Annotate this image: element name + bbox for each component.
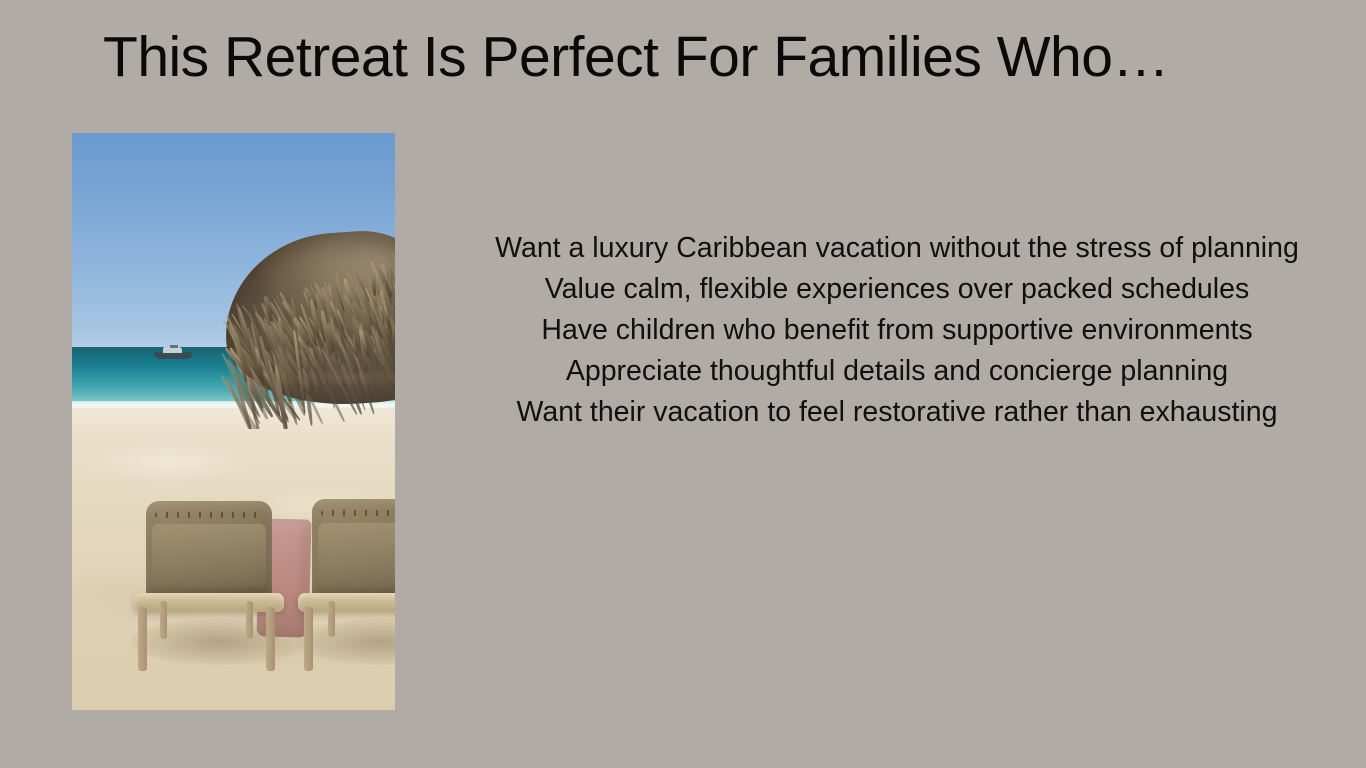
boat-mast (170, 345, 178, 348)
lounge-chair-left (134, 501, 284, 671)
chair-backrest (312, 499, 395, 597)
slide-canvas: This Retreat Is Perfect For Families Who… (0, 0, 1366, 768)
page-title: This Retreat Is Perfect For Families Who… (103, 20, 1283, 94)
chair-shadow (130, 619, 306, 665)
beach-photo-scene (72, 133, 395, 710)
chair-leg (328, 601, 335, 637)
palapa-thatch-strands (221, 229, 395, 429)
boat-hull (154, 352, 192, 359)
chair-leg (160, 601, 167, 639)
bullet-list: Want a luxury Caribbean vacation without… (447, 228, 1347, 433)
bullet-item: Want a luxury Caribbean vacation without… (447, 228, 1347, 269)
bullet-item: Want their vacation to feel restorative … (447, 392, 1347, 433)
chair-leg (138, 607, 147, 671)
palapa-shadow (255, 369, 395, 387)
bullet-item: Have children who benefit from supportiv… (447, 310, 1347, 351)
chair-leg (304, 607, 313, 671)
beach-photo (72, 133, 395, 710)
bullet-item: Value calm, flexible experiences over pa… (447, 269, 1347, 310)
chair-leg (266, 607, 275, 671)
chair-backrest (146, 501, 272, 597)
boat-icon (154, 345, 192, 359)
chair-leg (246, 601, 253, 639)
lounge-chair-right (298, 499, 395, 671)
palapa-umbrella (221, 229, 395, 429)
bullet-item: Appreciate thoughtful details and concie… (447, 351, 1347, 392)
chair-seat (134, 593, 284, 612)
